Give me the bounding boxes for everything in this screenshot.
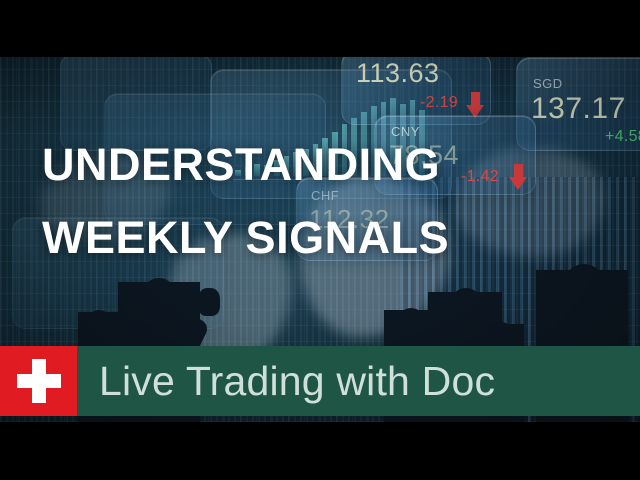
letterbox-top (0, 0, 640, 57)
swiss-cross-horizontal (17, 374, 61, 388)
ticker-delta-jpy: -2.19 (420, 94, 458, 112)
swiss-flag-icon (0, 346, 77, 416)
brand-bar: Live Trading with Doc (0, 346, 640, 416)
headline-line-1: UNDERSTANDING (42, 128, 449, 201)
ticker-code-sgd: SGD (533, 76, 563, 91)
channel-label: Live Trading with Doc (77, 346, 495, 416)
letterbox-bottom (0, 422, 640, 480)
ticker-value-jpy: 113.63 (356, 58, 440, 89)
ticker-delta-sgd: +4.58 (605, 128, 640, 146)
ticker-value-sgd: 137.17 (531, 92, 626, 126)
video-thumbnail: 113.63 -2.19 SGD 137.17 +4.58 CNY 78.54 … (0, 0, 640, 480)
ticker-delta-cny: -1.42 (461, 168, 499, 186)
headline-line-2: WEEKLY SIGNALS (42, 201, 449, 274)
page-title: UNDERSTANDING WEEKLY SIGNALS (42, 128, 449, 274)
